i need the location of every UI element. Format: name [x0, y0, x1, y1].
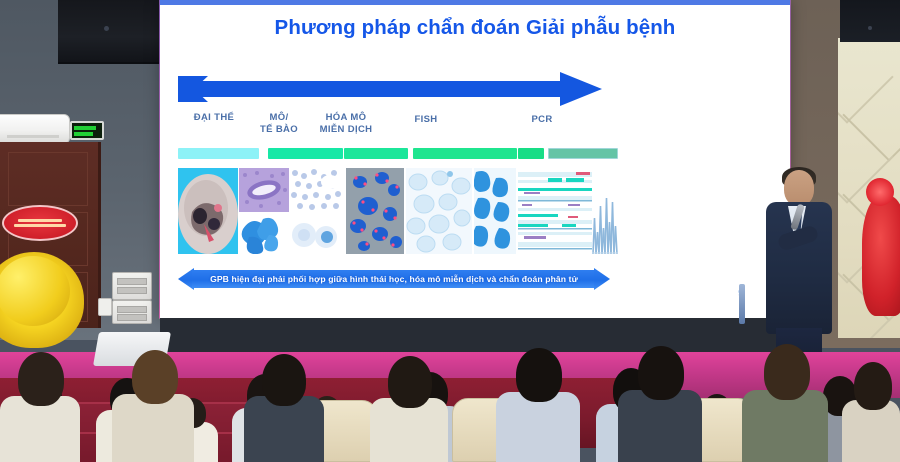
red-oval-welcome-sign [2, 205, 78, 241]
color-seg-pcr [548, 148, 618, 159]
stage-label-dai-the-line1: ĐẠI THỂ [178, 112, 250, 124]
image-sanger-chromatogram [592, 188, 618, 254]
audience-person [842, 362, 900, 462]
screen-top-glow [160, 0, 790, 5]
slide-title: Phương pháp chẩn đoán Giải phẫu bệnh [160, 16, 790, 40]
image-gross-specimen [178, 168, 238, 254]
stage-label-dai-the: ĐẠI THỂ [178, 112, 250, 124]
stage-label-hoa-mo-mien-dich: HÓA MÔ MIỄN DỊCH [308, 112, 384, 135]
image-pale-cells [290, 213, 342, 254]
green-led-display-icon [70, 121, 104, 140]
audience-person [618, 348, 702, 462]
stage-label-fish-line1: FISH [390, 114, 462, 126]
bottom-banner-text: GPB hiện đại phải phối hợp giữa hình thá… [178, 266, 610, 292]
audience-person [0, 352, 80, 462]
image-histology-he [239, 168, 289, 212]
audience-person [244, 354, 324, 462]
stage-label-mo-te-bao: MÔ/ TẾ BÀO [250, 112, 308, 135]
presenter-head [784, 170, 814, 206]
wall-electrical-panel [112, 272, 152, 300]
color-seg-mo-te-bao [268, 148, 343, 159]
screenshot-root: Phương pháp chẩn đoán Giải phẫu bệnh ĐẠI… [0, 0, 900, 462]
stage-label-mo-te-bao-line1: MÔ/ [250, 112, 308, 124]
stage-label-pcr-line1: PCR [506, 114, 578, 126]
wall-outlet [98, 298, 112, 316]
audience-person [370, 356, 448, 462]
ceiling-speaker-icon [58, 0, 162, 64]
stage-color-bar [178, 148, 618, 159]
stage-label-hmmd-line1: HÓA MÔ [308, 112, 384, 124]
audience-person [112, 350, 194, 462]
air-conditioner-icon [0, 114, 70, 144]
image-cytology-cluster [239, 213, 289, 254]
ceiling-speaker-right-icon [840, 0, 900, 42]
projection-screen: Phương pháp chẩn đoán Giải phẫu bệnh ĐẠI… [160, 0, 790, 318]
color-seg-fish [413, 148, 516, 159]
color-seg-hmmd [344, 148, 408, 159]
color-seg-dai-the [178, 148, 259, 159]
stage-label-pcr: PCR [506, 114, 578, 126]
microphone-stand [739, 284, 745, 324]
stage-label-fish: FISH [390, 114, 462, 126]
wall-electrical-panel-2 [112, 300, 152, 324]
red-flower-arrangement [862, 196, 900, 316]
image-cytology-smear [290, 168, 342, 212]
audience [0, 330, 900, 462]
image-ihc-stain [346, 168, 404, 254]
bottom-conclusion-banner: GPB hiện đại phải phối hợp giữa hình thá… [178, 266, 610, 292]
stage-label-mo-te-bao-line2: TẾ BÀO [250, 124, 308, 136]
stage-labels-row: ĐẠI THỂ MÔ/ TẾ BÀO HÓA MÔ MIỄN DỊCH FISH… [178, 110, 618, 148]
color-seg-fish-b [518, 148, 544, 159]
audience-person [742, 346, 828, 462]
audience-person [496, 350, 580, 462]
microscopy-image-strip [178, 166, 618, 254]
stage-label-hmmd-line2: MIỄN DỊCH [308, 124, 384, 136]
image-gene-heatmap [518, 168, 592, 254]
image-fish-cluster [474, 168, 516, 254]
image-fish-field [406, 168, 472, 254]
double-headed-progression-arrow [178, 72, 602, 106]
